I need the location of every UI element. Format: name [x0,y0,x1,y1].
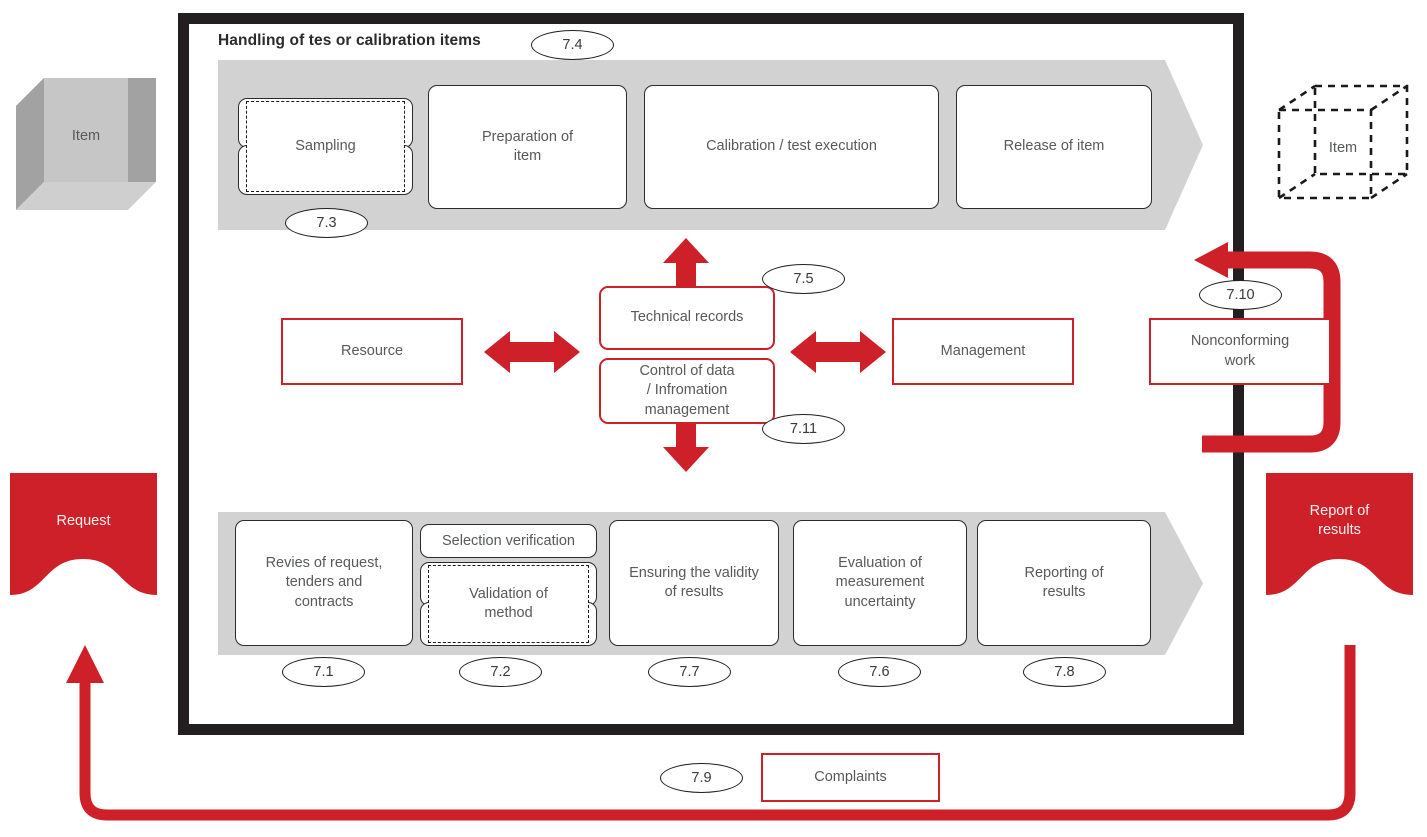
feedback-loop-path [60,645,1370,835]
validation-box-dashed: Validation of method [428,565,589,643]
sampling-box-lower-half [238,145,413,195]
sampling-box-upper-half [238,98,413,148]
reporting-line-1: Reporting of [1025,564,1104,583]
control-of-data-line-1: Control of data [639,362,734,381]
double-arrow-icon [790,331,886,373]
arrow-bidirectional-left [484,331,580,373]
ensuring-line-1: Ensuring the validity [629,564,759,583]
arrow-up-icon [663,238,709,306]
validation-line-1: Validation of [469,585,548,604]
process-box-sampling[interactable]: Sampling [238,98,413,195]
report-line-1: Report of [1310,502,1370,521]
validation-line-2: method [484,604,532,623]
nonconforming-line-1: Nonconforming [1191,332,1289,351]
item-output-cube: Item [1275,80,1415,205]
ref-ellipse-7-11: 7.11 [762,414,845,444]
reporting-line-2: results [1043,583,1086,602]
process-box-review-of-requests[interactable]: Revies of request, tenders and contracts [235,520,413,646]
cube-solid-icon [16,78,156,210]
ref-ellipse-7-9: 7.9 [660,763,743,793]
diagram-canvas: Item Item Handling of tes or calibration… [0,0,1427,837]
nonconforming-line-2: work [1225,352,1256,371]
request-banner: Request [10,473,157,595]
ref-ellipse-7-3: 7.3 [285,208,368,238]
ref-ellipse-7-5: 7.5 [762,264,845,294]
evaluation-line-3: uncertainty [845,593,916,612]
report-of-results-banner: Report of results [1266,473,1413,595]
process-box-ensuring-validity[interactable]: Ensuring the validity of results [609,520,779,646]
item-input-cube: Item [16,78,156,210]
red-box-control-of-data[interactable]: Control of data / Infromation management [599,358,775,424]
feedback-path-icon [60,645,1370,835]
ref-ellipse-7-4: 7.4 [531,30,614,60]
process-box-evaluation-uncertainty[interactable]: Evaluation of measurement uncertainty [793,520,967,646]
red-box-nonconforming-work[interactable]: Nonconforming work [1149,318,1331,385]
control-of-data-line-3: management [645,401,730,420]
process-box-validation-of-method[interactable]: Validation of method [420,562,597,646]
double-arrow-icon [484,331,580,373]
evaluation-line-1: Evaluation of [838,554,922,573]
evaluation-line-2: measurement [836,573,925,592]
arrow-bidirectional-right [790,331,886,373]
control-of-data-line-2: / Infromation [647,381,728,400]
review-line-1: Revies of request, [266,554,383,573]
preparation-line-1: Preparation of [482,128,573,147]
report-line-2: results [1318,521,1361,540]
review-line-2: tenders and [286,573,363,592]
process-box-reporting-of-results[interactable]: Reporting of results [977,520,1151,646]
ref-ellipse-7-10: 7.10 [1199,280,1282,310]
preparation-line-2: item [514,147,541,166]
ensuring-line-2: of results [665,583,724,602]
process-box-preparation-of-item[interactable]: Preparation of item [428,85,627,209]
arrow-up-red [663,238,709,306]
cube-wireframe-icon [1275,80,1415,205]
review-line-3: contracts [295,593,354,612]
